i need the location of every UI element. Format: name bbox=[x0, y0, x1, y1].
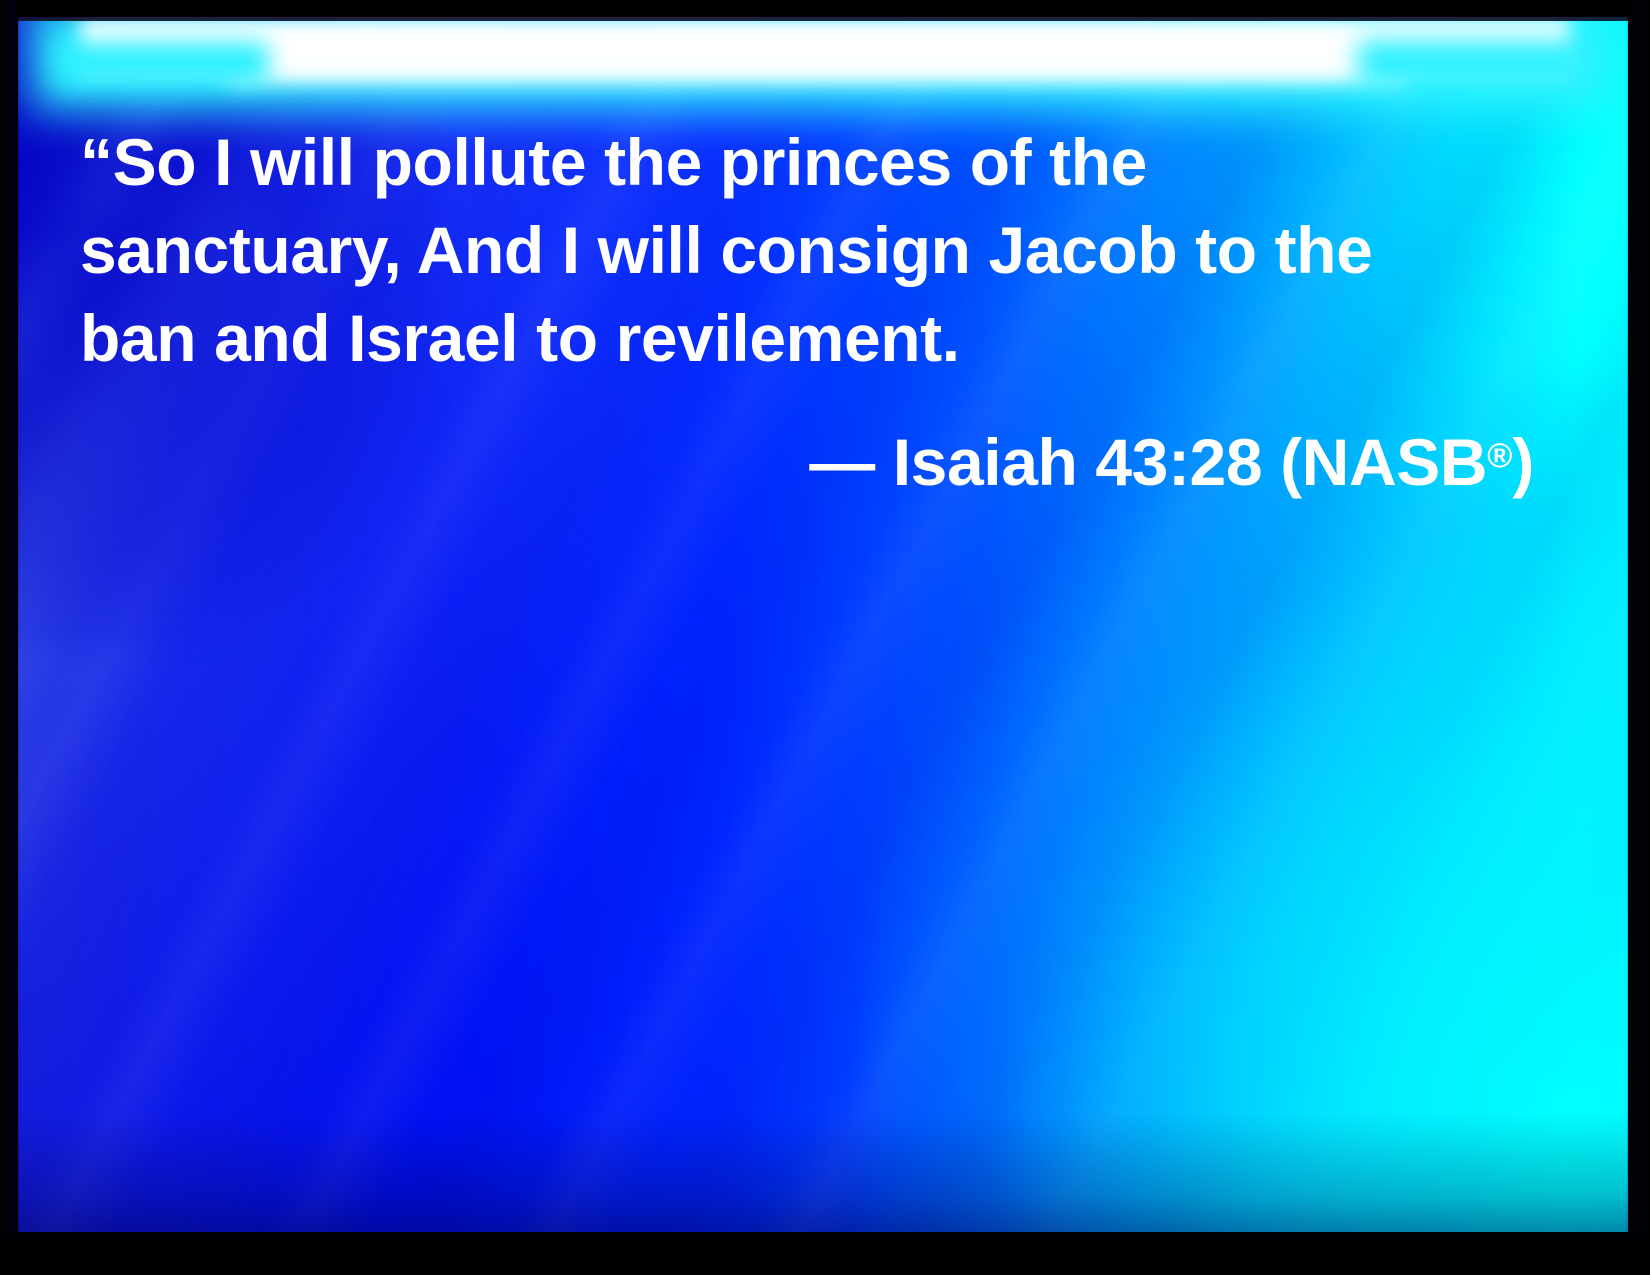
verse-text-block: “So I will pollute the princes of the sa… bbox=[80, 118, 1540, 506]
verse-line-1: “So I will pollute the princes of the bbox=[80, 118, 1540, 206]
registered-trademark-icon: ® bbox=[1487, 437, 1512, 475]
background-bottom-shade bbox=[18, 1112, 1628, 1232]
panel-top-violet-bar bbox=[18, 17, 1628, 21]
panel-top-black-bar bbox=[18, 8, 1628, 17]
verse-line-3: ban and Israel to revilement. bbox=[80, 294, 1540, 382]
verse-attribution-suffix: ) bbox=[1512, 425, 1534, 499]
frame-right-border bbox=[1626, 0, 1650, 1275]
header-glow-notch-left bbox=[58, 42, 268, 84]
header-glow-notch-right bbox=[1358, 40, 1588, 86]
frame-bottom-border bbox=[0, 1232, 1650, 1275]
frame-top-border bbox=[0, 0, 1650, 9]
verse-line-2: sanctuary, And I will consign Jacob to t… bbox=[80, 206, 1540, 294]
frame-left-border bbox=[0, 0, 20, 1275]
verse-attribution-prefix: — Isaiah 43:28 (NASB bbox=[809, 425, 1487, 499]
verse-attribution: — Isaiah 43:28 (NASB®) bbox=[80, 412, 1540, 506]
header-glow-bar bbox=[58, 14, 1588, 92]
header-glow-core-lower bbox=[228, 48, 1408, 82]
background-cyan-glow bbox=[868, 382, 1628, 1232]
verse-slide: “So I will pollute the princes of the sa… bbox=[0, 0, 1650, 1275]
